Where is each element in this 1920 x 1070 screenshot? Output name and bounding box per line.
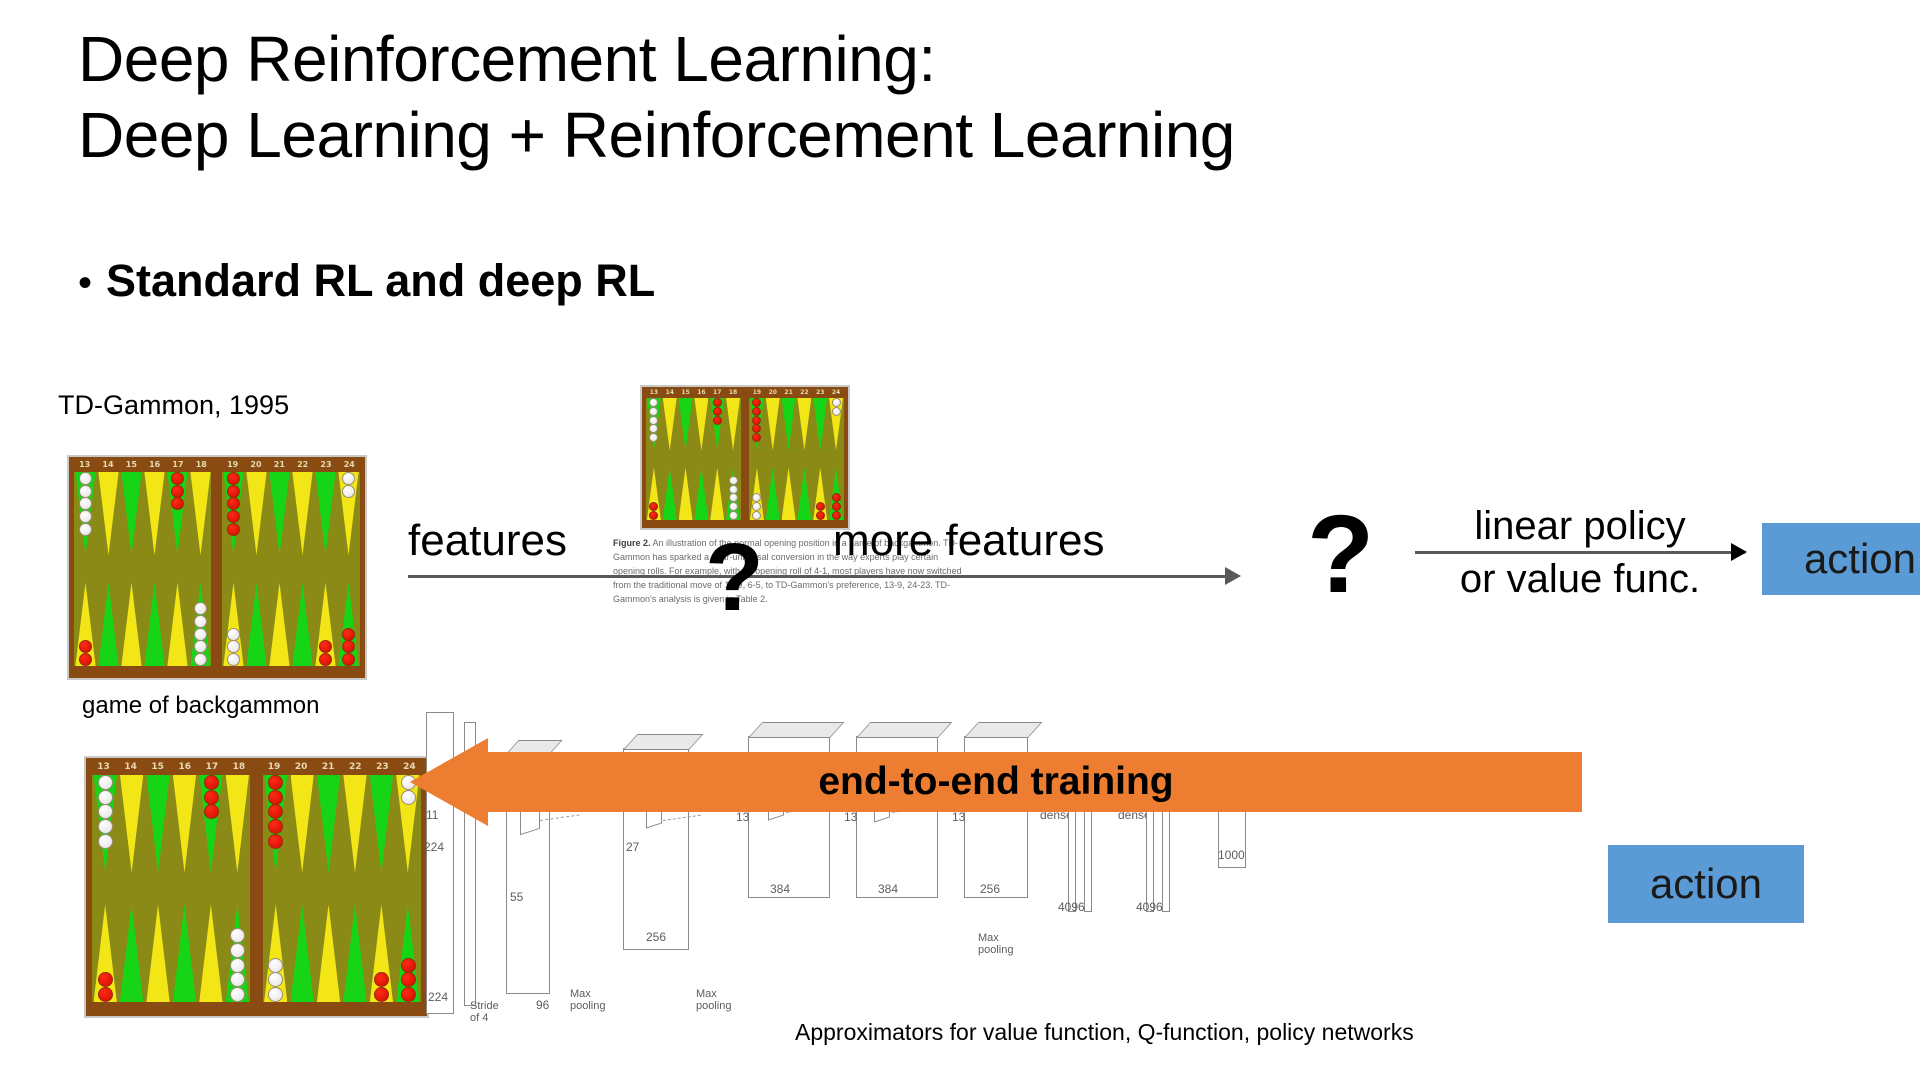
board-point xyxy=(291,569,314,666)
board-checker xyxy=(713,416,722,425)
board-checker xyxy=(832,407,841,416)
board-checker xyxy=(713,407,722,416)
board-checker xyxy=(79,472,92,485)
board-point xyxy=(678,459,694,520)
board-half-right: 192021222324 xyxy=(217,457,365,678)
board-point xyxy=(781,459,797,520)
board-checker xyxy=(832,493,841,502)
board-point-numbers-right: 192021222324 xyxy=(745,387,848,398)
board-point-number: 13 xyxy=(79,460,90,469)
board-checker xyxy=(79,523,92,536)
board-point xyxy=(812,398,828,459)
board-checker xyxy=(227,472,240,485)
end-to-end-training-label: end-to-end training xyxy=(410,752,1582,812)
end-to-end-training-arrow: end-to-end training xyxy=(410,738,1582,826)
board-point xyxy=(342,775,368,889)
board-half-left: 131415161718 xyxy=(86,758,257,1016)
board-point xyxy=(796,459,812,520)
td-gammon-label: TD-Gammon, 1995 xyxy=(58,390,289,421)
board-point xyxy=(145,889,171,1003)
bullet-item-label: Standard RL and deep RL xyxy=(106,258,655,303)
board-point-numbers-left: 131415161718 xyxy=(86,758,257,775)
board-point-number: 19 xyxy=(753,389,761,396)
board-point-number: 16 xyxy=(179,762,192,772)
board-point-number: 23 xyxy=(376,762,389,772)
cnn-layer-label: 256 xyxy=(646,930,666,944)
board-checker xyxy=(227,628,240,641)
board-felt-right xyxy=(263,775,422,1002)
board-felt-left xyxy=(92,775,251,1002)
board-point-number: 19 xyxy=(268,762,281,772)
board-checker xyxy=(713,398,722,407)
cnn-layer-label: 224 xyxy=(424,840,444,854)
board-point-number: 24 xyxy=(344,460,355,469)
board-point xyxy=(268,569,291,666)
board-point-number: 24 xyxy=(832,389,840,396)
board-point-numbers-left: 131415161718 xyxy=(642,387,745,398)
bullet-marker-icon: • xyxy=(78,263,92,303)
board-checker xyxy=(204,790,219,805)
policy-bottom-label: or value func. xyxy=(1415,558,1745,600)
board-checker xyxy=(98,775,113,790)
cnn-layer-label: Max pooling xyxy=(696,988,731,1012)
board-checker xyxy=(79,653,92,666)
cnn-layer-label: Stride of 4 xyxy=(470,1000,499,1024)
board-checker xyxy=(204,775,219,790)
board-point xyxy=(268,472,291,569)
board-checker xyxy=(342,628,355,641)
board-points-lower-left xyxy=(92,889,251,1003)
board-checker xyxy=(194,628,207,641)
pipeline-arrow-head-icon xyxy=(1225,567,1241,585)
board-point xyxy=(368,775,394,889)
approximators-caption: Approximators for value function, Q-func… xyxy=(795,1019,1414,1046)
board-points-upper-right xyxy=(263,775,422,889)
board-checker xyxy=(342,472,355,485)
board-points-lower-right xyxy=(263,889,422,1003)
board-felt-left xyxy=(646,398,741,520)
board-points-upper-left xyxy=(74,472,212,569)
board-point xyxy=(143,569,166,666)
board-point-number: 20 xyxy=(295,762,308,772)
board-point xyxy=(97,569,120,666)
cnn-layer-top-face xyxy=(964,722,1042,738)
board-point-number: 15 xyxy=(681,389,689,396)
action-box-top: action xyxy=(1762,523,1920,595)
cnn-layer-label: 55 xyxy=(510,890,523,904)
board-point xyxy=(765,459,781,520)
board-checker xyxy=(79,485,92,498)
board-point-number: 16 xyxy=(697,389,705,396)
board-checker xyxy=(98,987,113,1002)
board-point-number: 23 xyxy=(816,389,824,396)
page-title: Deep Reinforcement Learning: Deep Learni… xyxy=(78,22,1778,173)
board-checker xyxy=(729,493,738,502)
board-point xyxy=(693,398,709,459)
board-point xyxy=(118,775,144,889)
board-point xyxy=(120,569,143,666)
board-checker xyxy=(401,987,416,1002)
cnn-layer-label: 27 xyxy=(626,840,639,854)
board-checker xyxy=(729,511,738,520)
policy-arrow-group: linear policy or value func. xyxy=(1415,505,1745,600)
board-half-right: 192021222324 xyxy=(257,758,428,1016)
question-mark-2-icon: ? xyxy=(1307,500,1374,610)
board-checker xyxy=(227,653,240,666)
cnn-layer-top-face xyxy=(748,722,844,738)
board-checker xyxy=(268,790,283,805)
board-point xyxy=(678,398,694,459)
board-point xyxy=(796,398,812,459)
board-half-left: 131415161718 xyxy=(69,457,217,678)
board-points-upper-left xyxy=(92,775,251,889)
board-checker xyxy=(171,485,184,498)
board-point xyxy=(198,889,224,1003)
cnn-layer-label: 1000 xyxy=(1218,848,1245,862)
board-checker xyxy=(98,834,113,849)
board-point-number: 22 xyxy=(800,389,808,396)
board-point xyxy=(289,889,315,1003)
board-point xyxy=(245,472,268,569)
cnn-layer-label: 384 xyxy=(878,882,898,896)
board-point-number: 17 xyxy=(713,389,721,396)
pipeline-arrow-shaft xyxy=(408,575,1232,578)
board-checker xyxy=(98,790,113,805)
figure-caption-prefix: Figure 2. xyxy=(613,538,651,548)
board-checker xyxy=(227,523,240,536)
board-checker xyxy=(227,485,240,498)
board-point xyxy=(291,472,314,569)
board-checker xyxy=(729,485,738,494)
board-checker xyxy=(816,502,825,511)
action-box-bottom: action xyxy=(1608,845,1804,923)
board-points-lower-left xyxy=(74,569,212,666)
board-point xyxy=(342,889,368,1003)
board-point-number: 13 xyxy=(97,762,110,772)
board-point xyxy=(709,459,725,520)
board-point-number: 15 xyxy=(126,460,137,469)
board-point xyxy=(662,398,678,459)
board-checker xyxy=(401,958,416,973)
board-point-number: 21 xyxy=(274,460,285,469)
board-point-number: 14 xyxy=(124,762,137,772)
board-checker xyxy=(401,972,416,987)
board-point-numbers-left: 131415161718 xyxy=(69,457,217,472)
board-point xyxy=(143,472,166,569)
board-point xyxy=(315,889,341,1003)
board-checker xyxy=(319,653,332,666)
features-label: features xyxy=(408,516,567,566)
board-point-number: 14 xyxy=(666,389,674,396)
board-point-number: 17 xyxy=(206,762,219,772)
policy-arrow-shaft xyxy=(1415,551,1745,554)
board-point xyxy=(97,472,120,569)
board-points-lower-left xyxy=(646,459,741,520)
board-point-numbers-right: 192021222324 xyxy=(257,758,428,775)
board-point-numbers-right: 192021222324 xyxy=(217,457,365,472)
board-point xyxy=(662,459,678,520)
board-point-number: 22 xyxy=(297,460,308,469)
board-felt-right xyxy=(749,398,844,520)
cnn-layer-label: 4096 xyxy=(1136,900,1163,914)
board-point xyxy=(171,889,197,1003)
board-checker xyxy=(729,502,738,511)
board-point xyxy=(693,459,709,520)
slide-canvas: Deep Reinforcement Learning: Deep Learni… xyxy=(0,0,1920,1070)
board-point xyxy=(166,569,189,666)
board-checker xyxy=(729,476,738,485)
board-point xyxy=(314,472,337,569)
board-point-number: 23 xyxy=(320,460,331,469)
cnn-layer-label: 256 xyxy=(980,882,1000,896)
board-point-number: 19 xyxy=(227,460,238,469)
board-checker xyxy=(649,416,658,425)
board-point-number: 16 xyxy=(149,460,160,469)
backgammon-board-top: 131415161718 192021222324 xyxy=(67,455,367,680)
board-checker xyxy=(194,653,207,666)
board-point-number: 13 xyxy=(650,389,658,396)
board-checker xyxy=(832,502,841,511)
cnn-layer-top-face xyxy=(856,722,952,738)
backgammon-board-inset: 131415161718 192021222324 xyxy=(640,385,850,530)
board-points-upper-right xyxy=(749,398,844,459)
board-point xyxy=(765,398,781,459)
board-checker xyxy=(832,398,841,407)
board-points-upper-right xyxy=(222,472,360,569)
board-checker xyxy=(268,958,283,973)
board-point-number: 21 xyxy=(322,762,335,772)
board-point-number: 22 xyxy=(349,762,362,772)
board-checker xyxy=(752,416,761,425)
board-point-number: 15 xyxy=(151,762,164,772)
backgammon-caption: game of backgammon xyxy=(82,692,319,720)
board-point xyxy=(315,775,341,889)
cnn-layer-label: 224 xyxy=(428,990,448,1004)
board-point xyxy=(781,398,797,459)
more-features-label: more features xyxy=(833,516,1104,566)
board-point-number: 20 xyxy=(769,389,777,396)
board-point xyxy=(289,775,315,889)
policy-arrow-head-icon xyxy=(1731,543,1747,561)
bullet-list-item: • Standard RL and deep RL xyxy=(78,258,655,303)
board-point xyxy=(245,569,268,666)
title-line-1: Deep Reinforcement Learning: xyxy=(78,23,936,95)
board-checker xyxy=(194,615,207,628)
policy-top-label: linear policy xyxy=(1415,505,1745,547)
board-checker xyxy=(98,972,113,987)
board-point-number: 21 xyxy=(784,389,792,396)
board-checker xyxy=(816,511,825,520)
title-line-2: Deep Learning + Reinforcement Learning xyxy=(78,98,1778,174)
board-half-right: 192021222324 xyxy=(745,387,848,528)
board-points-upper-left xyxy=(646,398,741,459)
board-point xyxy=(118,889,144,1003)
cnn-layer-label: 384 xyxy=(770,882,790,896)
board-points-lower-right xyxy=(749,459,844,520)
board-checker xyxy=(342,485,355,498)
board-point-number: 18 xyxy=(729,389,737,396)
board-point xyxy=(120,472,143,569)
board-point xyxy=(224,775,250,889)
board-checker xyxy=(98,819,113,834)
board-checker xyxy=(230,958,245,973)
board-checker xyxy=(268,834,283,849)
cnn-layer-label: Max pooling xyxy=(570,988,605,1012)
board-felt-right xyxy=(222,472,360,666)
board-point xyxy=(171,775,197,889)
question-mark-1-icon: ? xyxy=(705,530,764,626)
board-checker xyxy=(194,602,207,615)
board-checker xyxy=(342,653,355,666)
board-point xyxy=(725,398,741,459)
cnn-layer-label: 96 xyxy=(536,998,549,1012)
board-points-lower-right xyxy=(222,569,360,666)
backgammon-board-bottom: 131415161718 192021222324 xyxy=(84,756,429,1018)
board-point-number: 17 xyxy=(172,460,183,469)
board-point-number: 20 xyxy=(250,460,261,469)
board-point xyxy=(145,775,171,889)
cnn-layer-label: Max pooling xyxy=(978,932,1013,956)
cnn-layer-label: 4096 xyxy=(1058,900,1085,914)
board-point-number: 14 xyxy=(102,460,113,469)
board-point-number: 18 xyxy=(233,762,246,772)
board-point-number: 18 xyxy=(196,460,207,469)
board-felt-left xyxy=(74,472,212,666)
board-half-left: 131415161718 xyxy=(642,387,745,528)
board-checker xyxy=(171,472,184,485)
board-point xyxy=(189,472,212,569)
